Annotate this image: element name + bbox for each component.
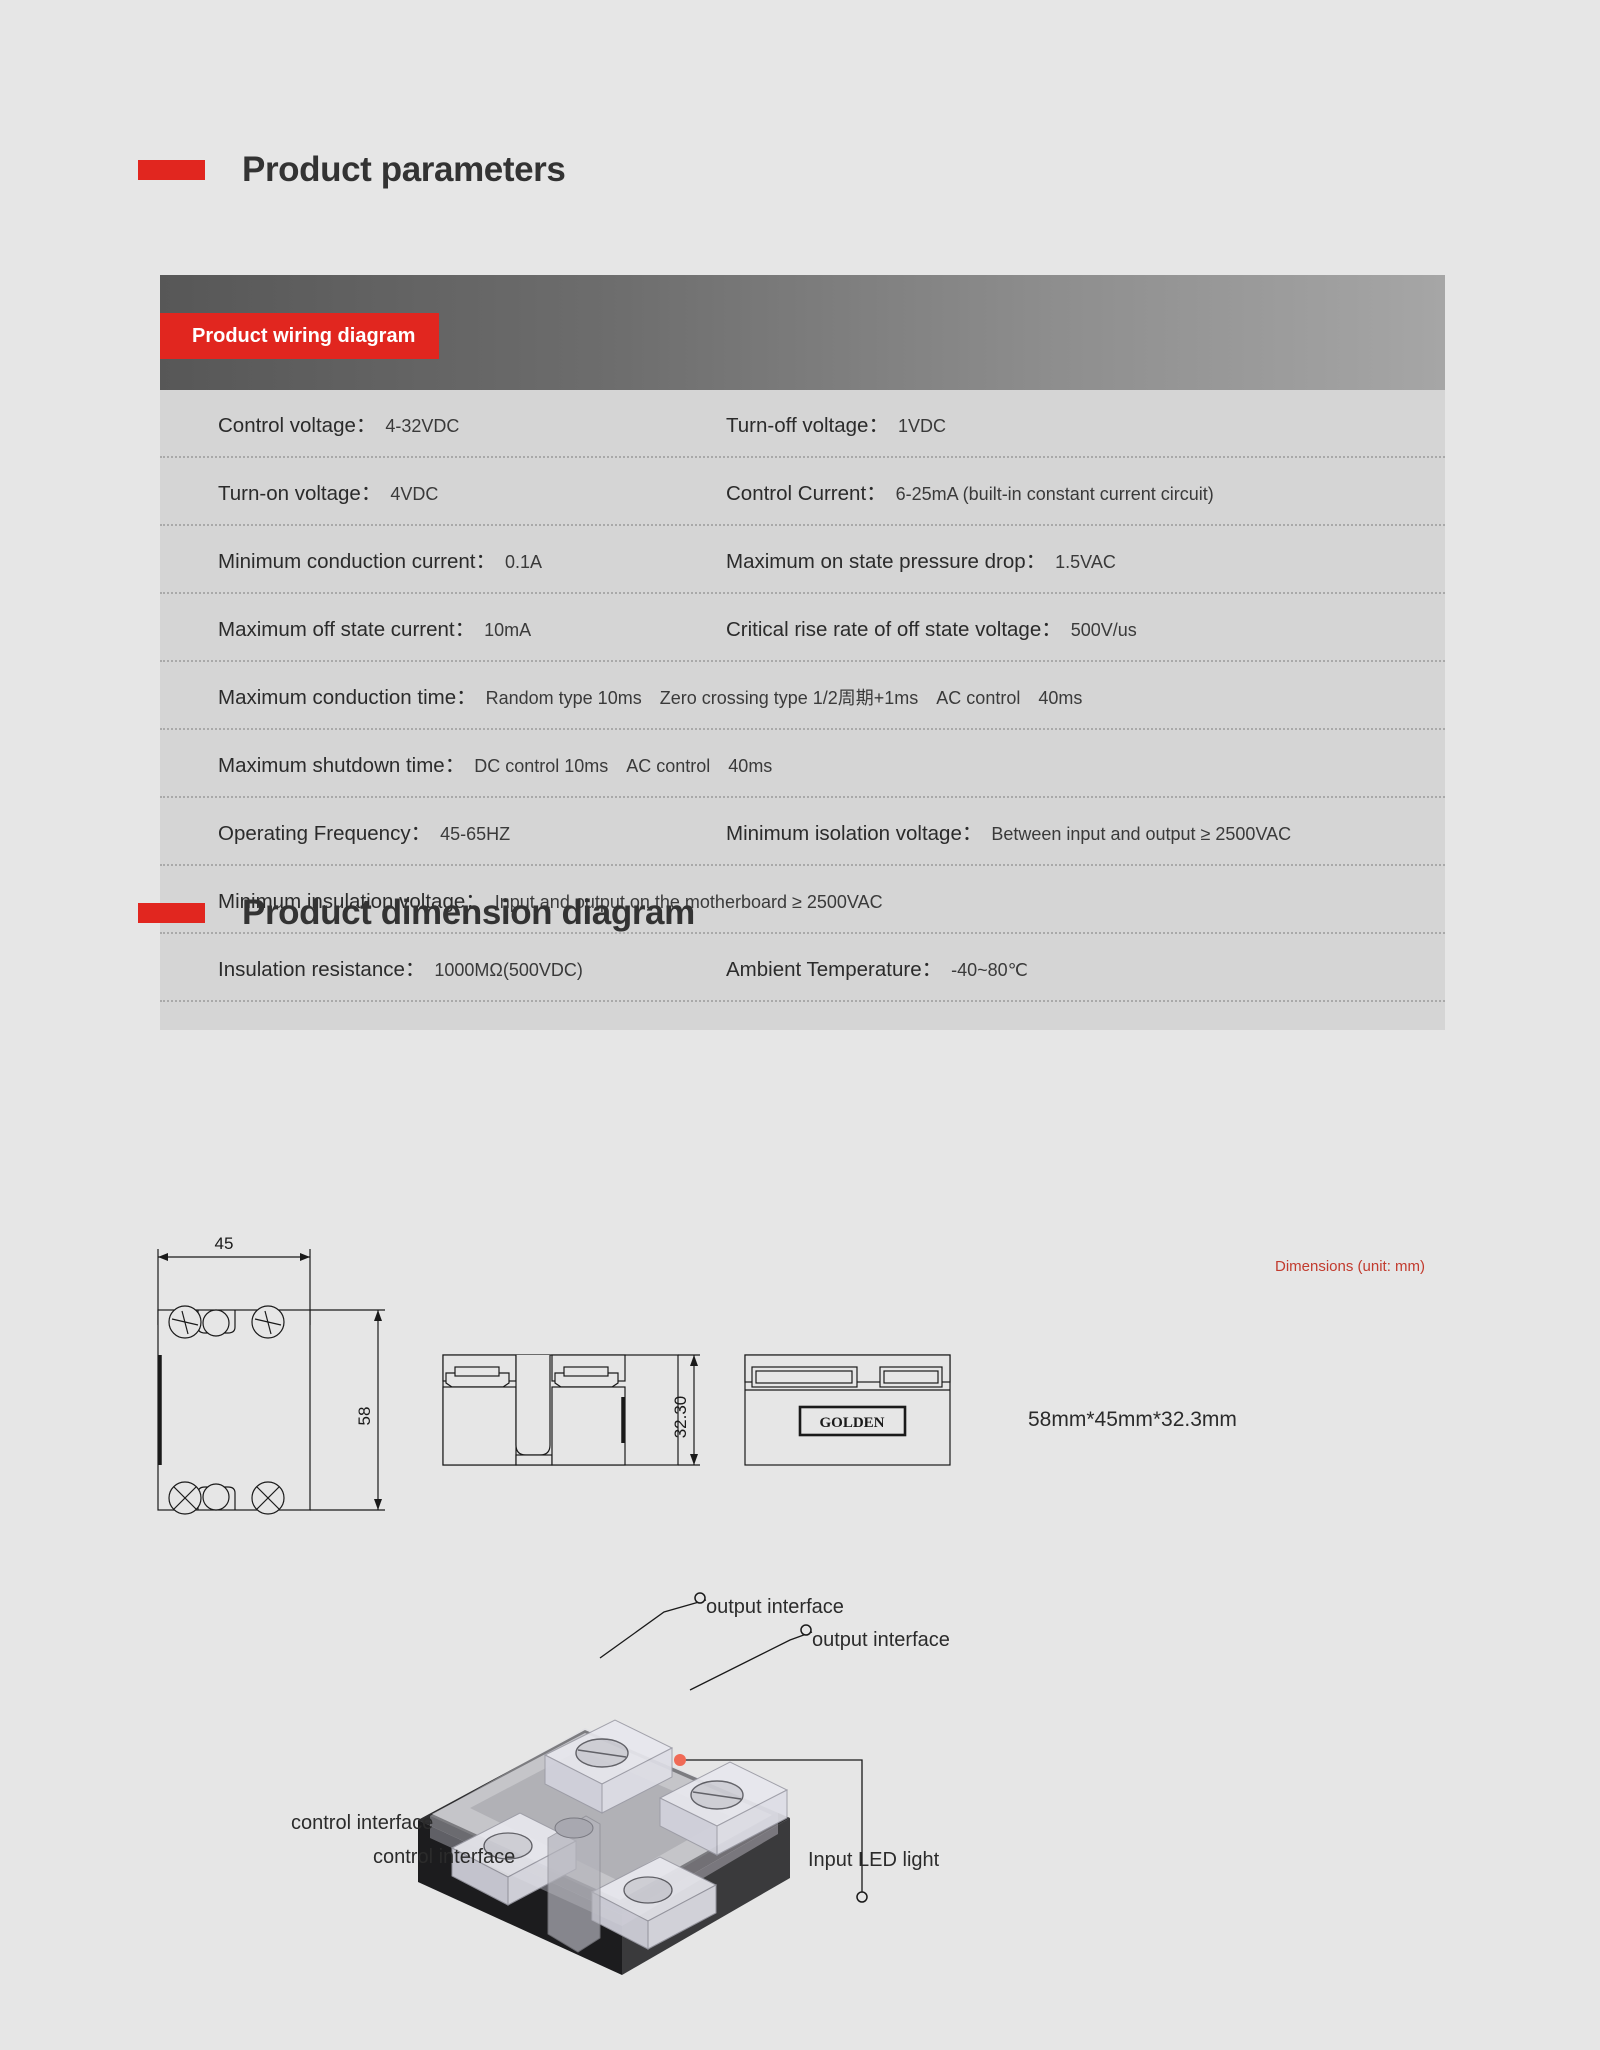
red-accent-bar-icon [138,903,205,923]
product-3d-svg [0,1570,1600,2010]
spec-label: Control Current： [726,476,887,506]
table-row: Insulation resistance：1000MΩ(500VDC)Ambi… [160,934,1445,1002]
red-accent-bar-icon [138,160,205,180]
spec-label: Maximum off state current： [218,612,475,642]
spec-label: Insulation resistance： [218,952,425,982]
spec-cell: Minimum isolation voltage：Between input … [690,816,1423,846]
spec-cell: Critical rise rate of off state voltage：… [690,612,1423,642]
spec-label: Minimum isolation voltage： [726,816,982,846]
spec-value: Between input and output ≥ 2500VAC [991,824,1291,845]
spec-value: -40~80℃ [951,960,1028,981]
spec-cell: Maximum shutdown time：DC control 10ms AC… [182,748,1423,778]
spec-label: Ambient Temperature： [726,952,942,982]
spec-label: Operating Frequency： [218,816,431,846]
spec-cell: Control Current：6-25mA (built-in constan… [690,476,1423,506]
product-parameters-heading: Product parameters [138,150,565,190]
table-row: Maximum shutdown time：DC control 10ms AC… [160,730,1445,798]
table-row: Control voltage：4-32VDCTurn-off voltage：… [160,390,1445,458]
section-title-dimension: Product dimension diagram [242,893,695,933]
table-row: Operating Frequency：45-65HZMinimum isola… [160,798,1445,866]
spec-value: 10mA [484,620,531,641]
spec-cell: Operating Frequency：45-65HZ [182,816,690,846]
brand-plate-label: GOLDEN [819,1415,884,1431]
dimension-thickness-label: 32.30 [671,1396,690,1439]
table-row: Maximum conduction time：Random type 10ms… [160,662,1445,730]
spec-value: 1.5VAC [1055,552,1116,573]
overall-size-text: 58mm*45mm*32.3mm [1028,1408,1237,1432]
spec-label: Maximum shutdown time： [218,748,465,778]
spec-value: 1VDC [898,416,946,437]
dimension-width-label: 45 [215,1234,234,1253]
spec-cell: Turn-off voltage：1VDC [690,408,1423,438]
spec-value: Random type 10ms Zero crossing type 1/2周… [486,684,1083,710]
product-wiring-diagram-badge: Product wiring diagram [160,313,439,359]
callout-input-led-light: Input LED light [808,1849,939,1872]
spec-cell: Maximum off state current：10mA [182,612,690,642]
dimension-unit-note: Dimensions (unit: mm) [1275,1258,1425,1275]
spec-label: Turn-off voltage： [726,408,889,438]
spec-label: Control voltage： [218,408,376,438]
spec-label: Maximum on state pressure drop： [726,544,1046,574]
spec-label: Critical rise rate of off state voltage： [726,612,1062,642]
spec-value: 4VDC [390,484,438,505]
product-dimension-heading: Product dimension diagram [138,893,695,933]
callout-control-interface-2: control interface [373,1846,515,1869]
spec-cell: Ambient Temperature：-40~80℃ [690,952,1423,982]
table-row: Turn-on voltage：4VDCControl Current：6-25… [160,458,1445,526]
callout-output-interface-2: output interface [812,1629,950,1652]
callout-control-interface-1: control interface [291,1812,433,1835]
table-row: Minimum conduction current：0.1AMaximum o… [160,526,1445,594]
spec-value: 1000MΩ(500VDC) [434,960,583,981]
spec-cell: Turn-on voltage：4VDC [182,476,690,506]
spec-value: 4-32VDC [385,416,459,437]
spec-cell: Maximum conduction time：Random type 10ms… [182,680,1423,710]
spec-cell: Insulation resistance：1000MΩ(500VDC) [182,952,690,982]
spec-cell: Maximum on state pressure drop：1.5VAC [690,544,1423,574]
page-title: Product parameters [242,150,565,190]
dimension-height-label: 58 [355,1407,374,1426]
panel-gradient-header: Product wiring diagram [160,275,1445,390]
spec-cell: Control voltage：4-32VDC [182,408,690,438]
spec-label: Turn-on voltage： [218,476,381,506]
spec-label: Minimum conduction current： [218,544,496,574]
spec-label: Maximum conduction time： [218,680,477,710]
callout-output-interface-1: output interface [706,1596,844,1619]
table-row: Maximum off state current：10mACritical r… [160,594,1445,662]
spec-value: DC control 10ms AC control 40ms [474,752,772,778]
spec-value: 6-25mA (built-in constant current circui… [896,484,1214,505]
product-illustration [0,1570,1600,2010]
spec-value: 0.1A [505,552,542,573]
spec-value: 45-65HZ [440,824,510,845]
spec-cell: Minimum conduction current：0.1A [182,544,690,574]
spec-value: 500V/us [1071,620,1137,641]
